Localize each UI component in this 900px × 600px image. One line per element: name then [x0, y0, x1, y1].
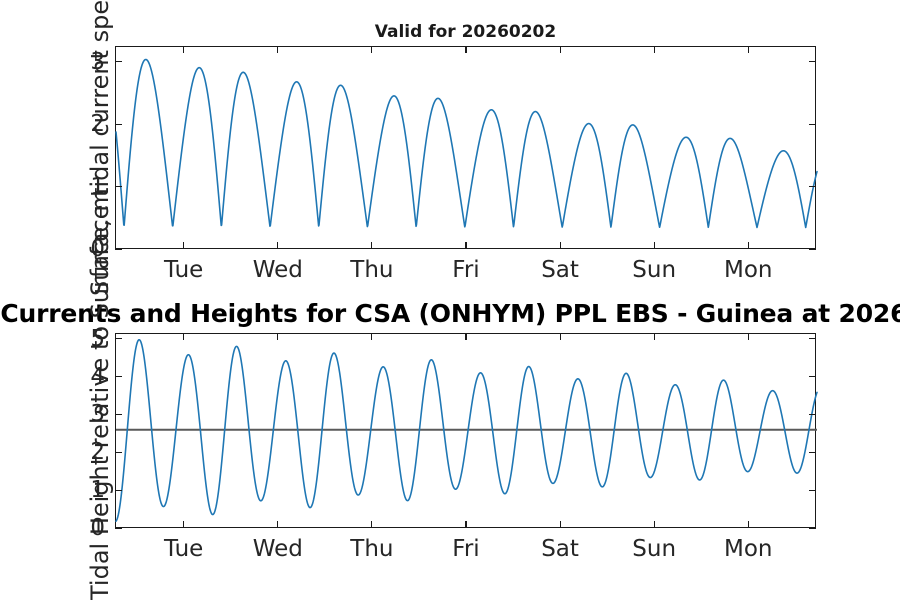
- x-tick-mark: [465, 242, 466, 249]
- x-tick-label: Fri: [452, 536, 479, 562]
- y-tick-mark: [809, 186, 816, 187]
- current-speed-series-canvas: [116, 47, 817, 250]
- y-tick-mark: [809, 528, 816, 529]
- x-tick-label: Sun: [632, 536, 676, 562]
- y-tick-mark: [115, 528, 122, 529]
- y-tick-mark: [809, 490, 816, 491]
- y-tick-mark: [115, 452, 122, 453]
- y-tick-mark: [809, 414, 816, 415]
- x-tick-mark: [654, 521, 655, 528]
- current-speed-panel: Valid for 20260202 0123 TueWedThuFriSatS…: [0, 0, 900, 296]
- x-tick-mark: [183, 521, 184, 528]
- x-tick-label: Thu: [350, 257, 393, 283]
- y-tick-mark: [809, 376, 816, 377]
- x-tick-mark: [371, 521, 372, 528]
- x-tick-mark: [748, 242, 749, 249]
- x-tick-label: Sat: [541, 257, 579, 283]
- x-tick-mark: [748, 46, 749, 53]
- tidal-height-panel: 012345 TueWedThuFriSatSunMon: [0, 296, 900, 600]
- tidal-height-plot-area: [115, 333, 816, 528]
- y-tick-mark: [115, 490, 122, 491]
- x-tick-mark: [654, 46, 655, 53]
- x-tick-label: Tue: [164, 257, 203, 283]
- x-tick-mark: [560, 521, 561, 528]
- x-tick-mark: [183, 242, 184, 249]
- y-tick-mark: [809, 124, 816, 125]
- y-tick-mark: [115, 414, 122, 415]
- x-tick-mark: [371, 242, 372, 249]
- y-tick-mark: [809, 452, 816, 453]
- x-tick-mark: [560, 46, 561, 53]
- current-speed-line: [116, 60, 817, 228]
- y-tick-mark: [115, 186, 122, 187]
- tide-figure: Valid for 20260202 0123 TueWedThuFriSatS…: [0, 0, 900, 600]
- x-tick-mark: [277, 242, 278, 249]
- x-tick-mark: [183, 46, 184, 53]
- current-speed-plot-area: [115, 46, 816, 249]
- x-tick-mark: [371, 46, 372, 53]
- x-tick-mark: [560, 242, 561, 249]
- y-tick-mark: [115, 124, 122, 125]
- y-tick-mark: [115, 249, 122, 250]
- y-tick-mark: [115, 338, 122, 339]
- x-tick-mark: [277, 46, 278, 53]
- x-tick-mark: [465, 521, 466, 528]
- x-tick-mark: [183, 333, 184, 340]
- x-tick-mark: [465, 46, 466, 53]
- x-tick-mark: [277, 521, 278, 528]
- x-tick-label: Thu: [350, 536, 393, 562]
- x-tick-label: Mon: [724, 257, 773, 283]
- x-tick-label: Mon: [724, 536, 773, 562]
- y-tick-mark: [809, 249, 816, 250]
- x-tick-label: Wed: [253, 536, 303, 562]
- y-tick-mark: [809, 338, 816, 339]
- x-tick-label: Tue: [164, 536, 203, 562]
- y-tick-mark: [809, 61, 816, 62]
- x-tick-mark: [371, 333, 372, 340]
- x-tick-mark: [654, 242, 655, 249]
- x-tick-mark: [465, 333, 466, 340]
- tidal-height-series-canvas: [116, 334, 817, 529]
- x-tick-mark: [560, 333, 561, 340]
- x-tick-mark: [748, 333, 749, 340]
- x-tick-label: Fri: [452, 257, 479, 283]
- current-speed-subtitle: Valid for 20260202: [115, 22, 816, 42]
- y-tick-mark: [115, 376, 122, 377]
- x-tick-mark: [748, 521, 749, 528]
- x-tick-label: Sat: [541, 536, 579, 562]
- y-tick-mark: [115, 61, 122, 62]
- x-tick-mark: [654, 333, 655, 340]
- x-tick-mark: [277, 333, 278, 340]
- x-tick-label: Wed: [253, 257, 303, 283]
- x-tick-label: Sun: [632, 257, 676, 283]
- tidal-height-axis-label: Tidal Height relative to Surface, m: [86, 188, 114, 600]
